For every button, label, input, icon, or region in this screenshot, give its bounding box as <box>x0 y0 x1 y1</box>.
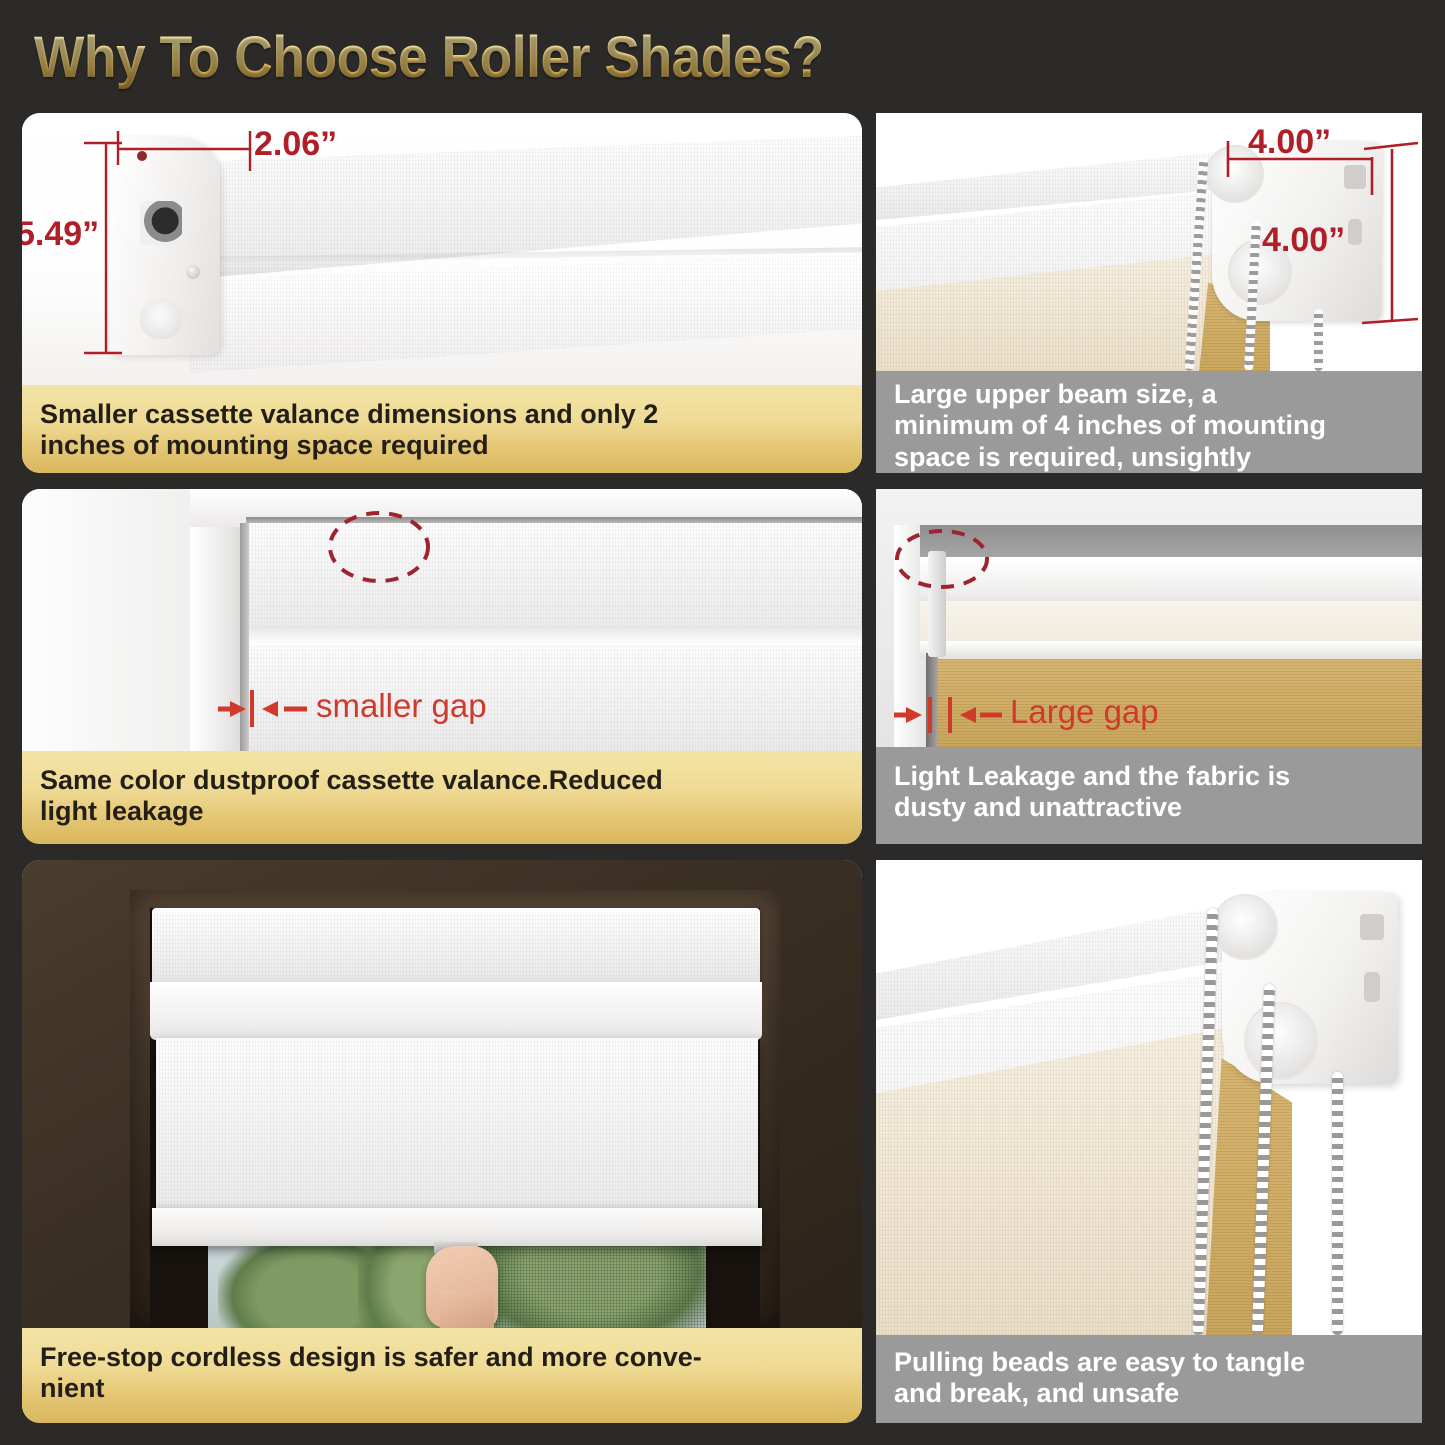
large-gap-label: Large gap <box>1010 693 1159 731</box>
forearm <box>440 1290 494 1328</box>
panel-large-upper-beam: 4.00” 4.00” Large upper beam size, a min… <box>876 113 1422 473</box>
caption-large-upper-beam: Large upper beam size, a minimum of 4 in… <box>876 371 1422 473</box>
panel-photo-large-upper-beam: 4.00” 4.00” <box>876 113 1422 371</box>
panel-light-leakage-dusty-fabric: Large gap Light Leakage and the fabric i… <box>876 489 1422 844</box>
bracket-notch-top <box>1360 914 1384 940</box>
width-dimension-label: 2.06” <box>254 125 337 164</box>
caption-text: Same color dustproof cassette valance.Re… <box>40 765 663 828</box>
page-title: Why To Choose Roller Shades? <box>34 24 824 91</box>
panel-photo-cordless-window <box>22 860 862 1328</box>
shade-bottom-rail <box>152 1208 762 1246</box>
shade-fabric-main <box>156 1038 758 1214</box>
panel-cassette-valance-dimensions: 2.06” 5.49” Smaller cassette valance dim… <box>22 113 862 473</box>
caption-text: Free-stop cordless design is safer and m… <box>40 1342 702 1405</box>
caption-text: Smaller cassette valance dimensions and … <box>40 399 658 462</box>
clutch-wheel-top <box>1212 894 1278 960</box>
infographic-page: Why To Choose Roller Shades? <box>0 0 1445 1445</box>
headrail-texture <box>154 912 758 976</box>
caption-text: Pulling beads are easy to tangle and bre… <box>894 1347 1305 1410</box>
beam-width-label: 4.00” <box>1248 123 1331 162</box>
height-dimension-label: 5.49” <box>22 215 99 254</box>
smaller-gap-label: smaller gap <box>316 687 487 725</box>
beam-height-label: 4.00” <box>1262 221 1345 260</box>
caption-pulling-beads-unsafe: Pulling beads are easy to tangle and bre… <box>876 1335 1422 1423</box>
caption-free-stop-cordless-design: Free-stop cordless design is safer and m… <box>22 1328 862 1423</box>
panel-photo-dustproof-valance: smaller gap <box>22 489 862 751</box>
panel-free-stop-cordless-design: Free-stop cordless design is safer and m… <box>22 860 862 1423</box>
panel-dustproof-cassette-valance: smaller gap Same color dustproof cassett… <box>22 489 862 844</box>
bead-chain-right <box>1332 1072 1343 1335</box>
headrail-lower-lip <box>150 982 762 1040</box>
panel-photo-light-leakage: Large gap <box>876 489 1422 747</box>
caption-dustproof-cassette-valance: Same color dustproof cassette valance.Re… <box>22 751 862 844</box>
caption-cassette-valance-dimensions: Smaller cassette valance dimensions and … <box>22 385 862 473</box>
caption-text: Light Leakage and the fabric is dusty an… <box>894 761 1290 824</box>
caption-light-leakage-dusty-fabric: Light Leakage and the fabric is dusty an… <box>876 747 1422 844</box>
panel-photo-cassette-valance: 2.06” 5.49” <box>22 113 862 385</box>
width-dimension-line <box>22 113 862 385</box>
bracket-notch-mid <box>1364 972 1380 1002</box>
caption-text: Large upper beam size, a minimum of 4 in… <box>894 379 1326 473</box>
panel-photo-pulling-beads <box>876 860 1422 1335</box>
clutch-wheel-bottom <box>1244 1002 1318 1080</box>
panel-pulling-beads-unsafe: Pulling beads are easy to tangle and bre… <box>876 860 1422 1423</box>
